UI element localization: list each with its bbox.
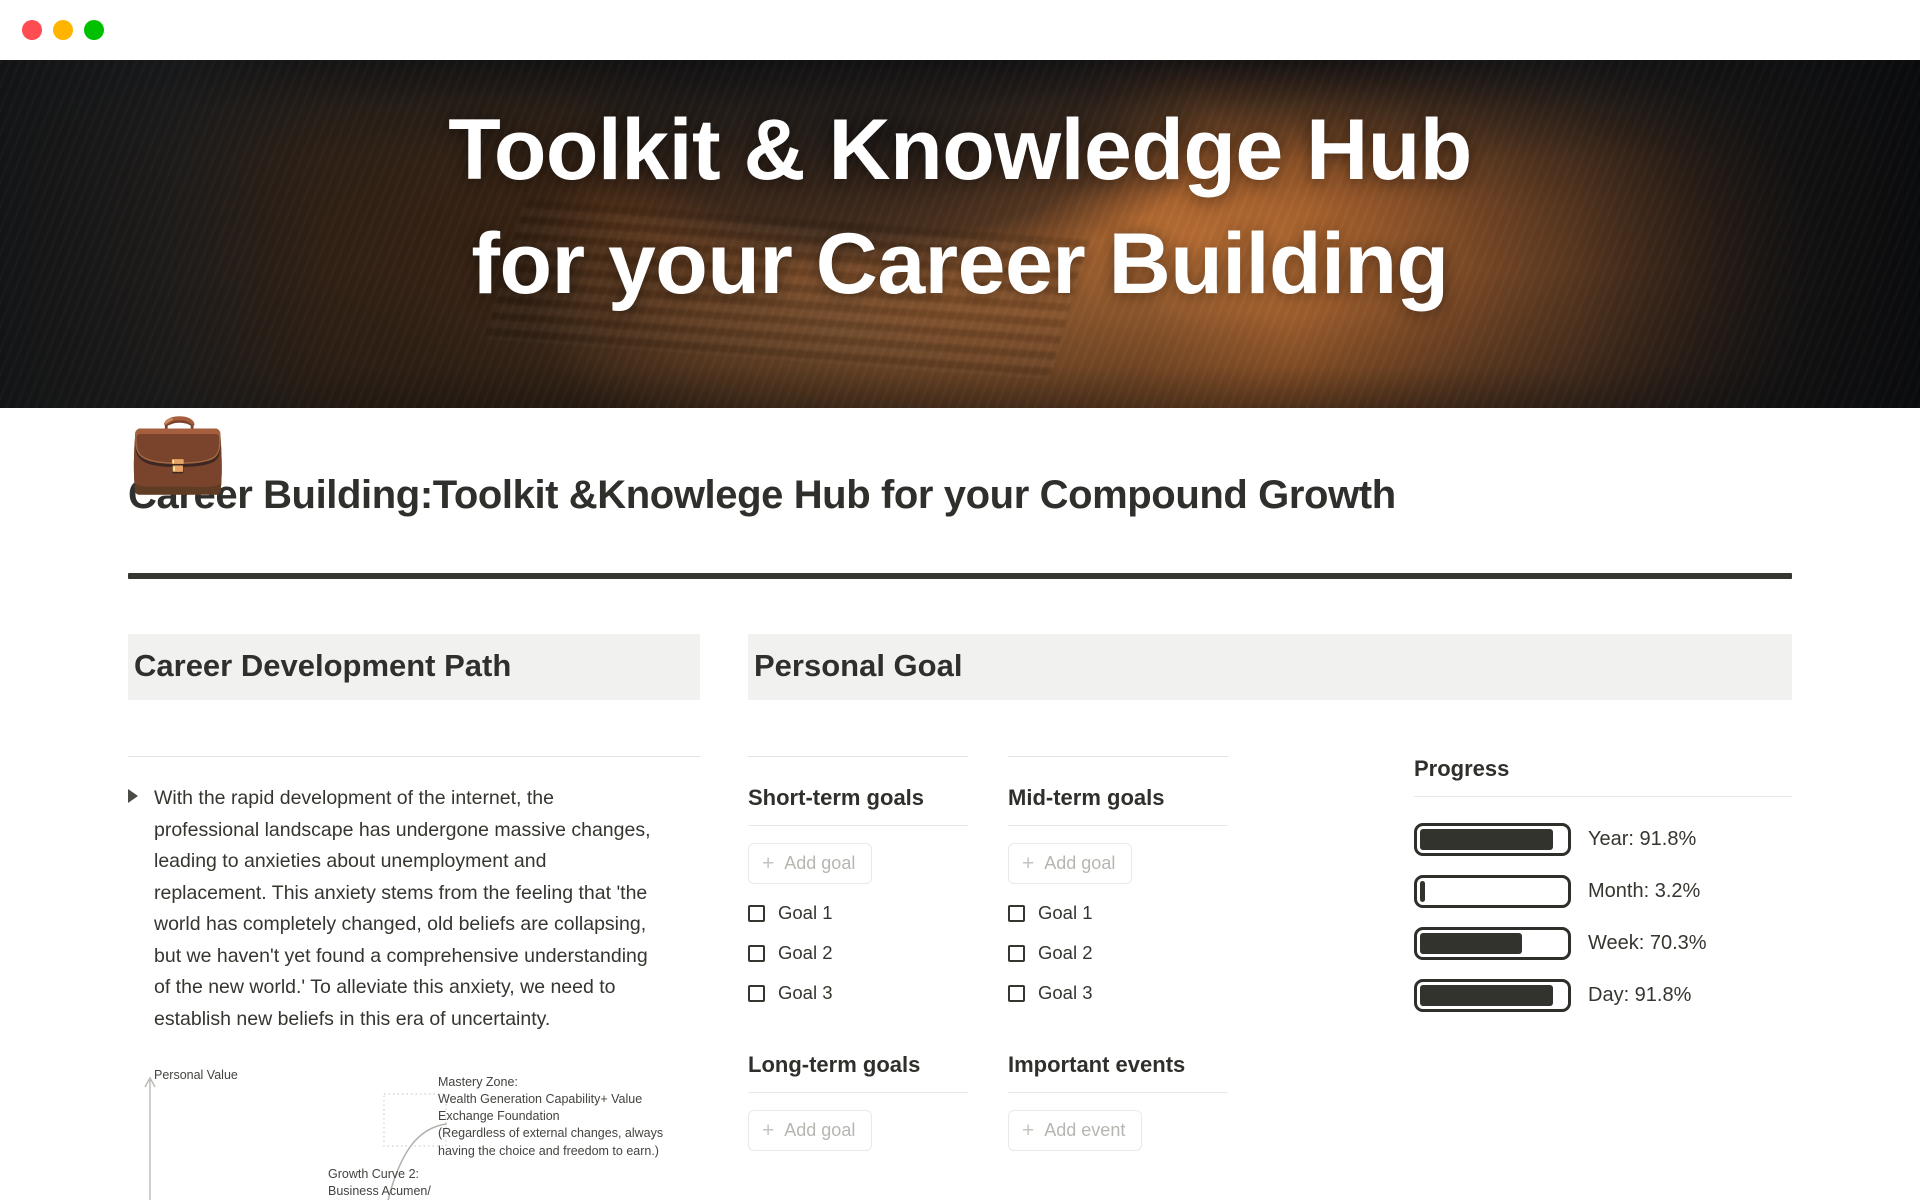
progress-panel: Progress Year: 91.8% Month [1368, 756, 1792, 1151]
checkbox-icon[interactable] [1008, 945, 1025, 962]
cover-banner[interactable]: Toolkit & Knowledge Hub for your Career … [0, 60, 1920, 408]
window-title-bar [0, 0, 1920, 60]
add-goal-label: Add goal [1044, 853, 1115, 874]
progress-row-year: Year: 91.8% [1414, 823, 1792, 856]
checkbox-icon[interactable] [748, 905, 765, 922]
add-event-label: Add event [1044, 1120, 1125, 1141]
career-development-column: Career Development Path With the rapid d… [128, 634, 748, 1200]
add-goal-button-long-term[interactable]: + Add goal [748, 1110, 872, 1151]
page-divider [128, 573, 1792, 579]
progress-bar-year [1414, 823, 1571, 856]
goal-card-title: Mid-term goals [1008, 785, 1228, 826]
goal-card-long-term: Long-term goals + Add goal [748, 1052, 968, 1151]
plus-icon: + [762, 1120, 774, 1141]
goal-and-progress-area: Short-term goals + Add goal Goal 1 [748, 756, 1792, 1151]
progress-fill [1420, 881, 1425, 902]
goal-card-important-events: Important events + Add event [1008, 1052, 1228, 1151]
progress-title: Progress [1414, 756, 1792, 797]
add-goal-label: Add goal [784, 853, 855, 874]
goal-checkbox-row[interactable]: Goal 3 [1008, 982, 1228, 1004]
window-maximize-button[interactable] [84, 20, 104, 40]
goal-checkbox-row[interactable]: Goal 1 [1008, 902, 1228, 924]
progress-label-year: Year: 91.8% [1588, 826, 1696, 852]
goal-label: Goal 2 [778, 942, 833, 964]
checkbox-icon[interactable] [1008, 985, 1025, 1002]
progress-fill [1420, 829, 1553, 850]
add-goal-button-mid-term[interactable]: + Add goal [1008, 843, 1132, 884]
progress-bar-week [1414, 927, 1571, 960]
window-close-button[interactable] [22, 20, 42, 40]
progress-fill [1420, 933, 1522, 954]
goal-card-mid-term: Mid-term goals + Add goal Goal 1 [1008, 756, 1228, 1004]
goal-card-title: Short-term goals [748, 785, 968, 826]
goal-card-title: Long-term goals [748, 1052, 968, 1093]
add-event-button[interactable]: + Add event [1008, 1110, 1142, 1151]
checkbox-icon[interactable] [748, 945, 765, 962]
progress-bar-list: Year: 91.8% Month: 3.2% [1414, 823, 1792, 1012]
goal-checkbox-row[interactable]: Goal 2 [748, 942, 968, 964]
diagram-mastery-zone-label: Mastery Zone: Wealth Generation Capabili… [438, 1074, 698, 1160]
goal-grid: Short-term goals + Add goal Goal 1 [748, 756, 1368, 1151]
progress-bar-month [1414, 875, 1571, 908]
page-title: Career Building:Toolkit &Knowlege Hub fo… [128, 473, 1792, 518]
goal-label: Goal 1 [778, 902, 833, 924]
progress-label-day: Day: 91.8% [1588, 982, 1691, 1008]
progress-bar-day [1414, 979, 1571, 1012]
plus-icon: + [1022, 853, 1034, 874]
goal-row-top: Short-term goals + Add goal Goal 1 [748, 756, 1368, 1004]
section-header-personal-goal: Personal Goal [748, 634, 1792, 700]
content-columns: Career Development Path With the rapid d… [128, 634, 1792, 1200]
progress-fill [1420, 985, 1553, 1006]
progress-row-week: Week: 70.3% [1414, 927, 1792, 960]
goal-label: Goal 1 [1038, 902, 1093, 924]
toggle-list-item[interactable]: With the rapid development of the intern… [128, 756, 700, 1036]
goal-card-short-term: Short-term goals + Add goal Goal 1 [748, 756, 968, 1004]
goal-checkbox-row[interactable]: Goal 3 [748, 982, 968, 1004]
chevron-right-icon[interactable] [128, 789, 138, 803]
progress-label-week: Week: 70.3% [1588, 930, 1707, 956]
goal-row-bottom: Long-term goals + Add goal Important eve… [748, 1052, 1368, 1151]
goal-label: Goal 3 [778, 982, 833, 1004]
progress-row-day: Day: 91.8% [1414, 979, 1792, 1012]
personal-goal-column: Personal Goal Short-term goals + Add goa… [748, 634, 1792, 1200]
goal-label: Goal 2 [1038, 942, 1093, 964]
add-goal-button-short-term[interactable]: + Add goal [748, 843, 872, 884]
diagram-y-axis-label: Personal Value [154, 1067, 238, 1084]
checkbox-icon[interactable] [748, 985, 765, 1002]
diagram-growth-curve-2-label: Growth Curve 2: Business Acumen/ Systemi… [328, 1166, 431, 1200]
progress-label-month: Month: 3.2% [1588, 878, 1700, 904]
toggle-paragraph: With the rapid development of the intern… [154, 783, 654, 1036]
goal-card-title: Important events [1008, 1052, 1228, 1093]
goal-label: Goal 3 [1038, 982, 1093, 1004]
growth-curve-diagram: Personal Value Mastery Zone: Wealth Gene… [128, 1066, 728, 1200]
window-minimize-button[interactable] [53, 20, 73, 40]
plus-icon: + [1022, 1120, 1034, 1141]
progress-row-month: Month: 3.2% [1414, 875, 1792, 908]
add-goal-label: Add goal [784, 1120, 855, 1141]
plus-icon: + [762, 853, 774, 874]
briefcase-icon[interactable]: 💼 [128, 411, 228, 491]
checkbox-icon[interactable] [1008, 905, 1025, 922]
page-body: 💼 Career Building:Toolkit &Knowlege Hub … [0, 473, 1920, 1200]
goal-checkbox-row[interactable]: Goal 1 [748, 902, 968, 924]
cover-title: Toolkit & Knowledge Hub for your Career … [0, 94, 1920, 321]
section-header-career-development: Career Development Path [128, 634, 700, 700]
goal-checkbox-row[interactable]: Goal 2 [1008, 942, 1228, 964]
